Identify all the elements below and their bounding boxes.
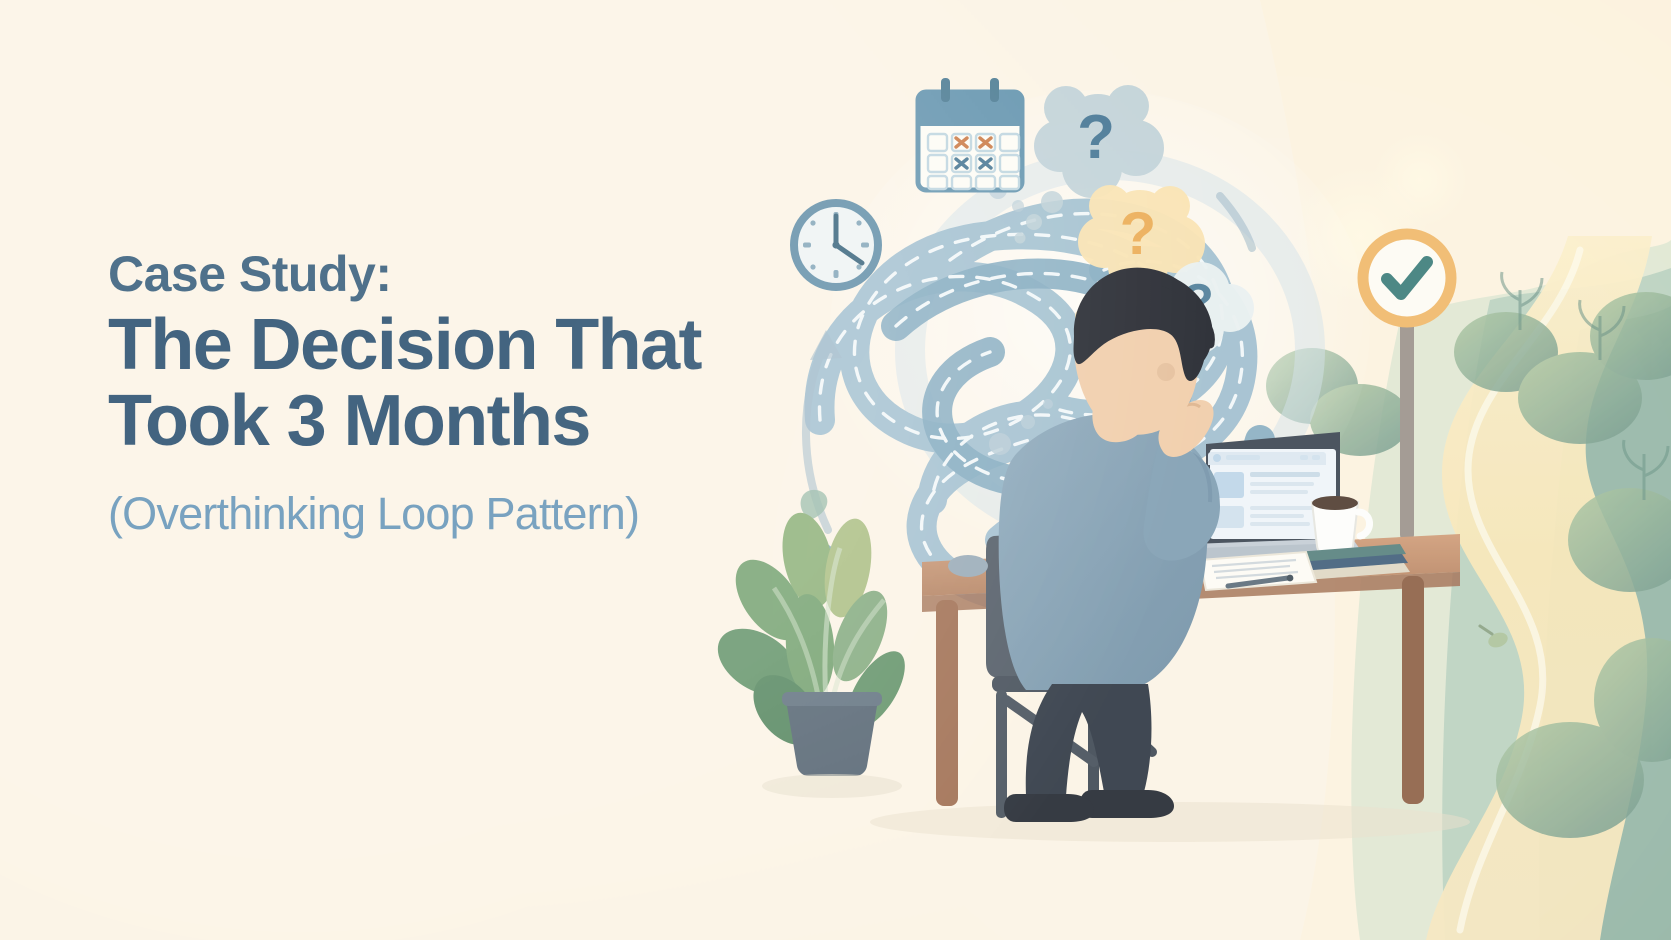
question-mark-glyph: ? [1077,103,1115,172]
computer-mouse [948,555,988,577]
coffee-surface [1312,496,1358,510]
light-glow [1372,132,1468,228]
question-mark-glyph: ? [1120,200,1157,267]
calendar-ring [990,78,999,102]
ear [1157,363,1175,381]
headline-line-2: Took 3 Months [108,384,728,460]
page-title: The Decision That Took 3 Months [108,308,728,459]
illustration-overthinking-at-desk: ? ? [700,0,1671,940]
sign-post [1400,300,1414,540]
banner-canvas: ? ? [0,0,1671,940]
shoe [1080,790,1174,818]
desk-leg [1402,576,1424,804]
eyebrow-text: Case Study: [108,246,728,302]
calendar-ring [941,78,950,102]
plant-shadow [762,774,902,798]
shoe [1004,794,1094,822]
chair-leg [996,690,1007,818]
wall-clock-icon [794,203,878,287]
subtitle-text: (Overthinking Loop Pattern) [108,487,728,541]
title-block: Case Study: The Decision That Took 3 Mon… [108,246,728,541]
wall-calendar-icon [918,78,1022,190]
desk-leg [936,600,958,806]
plant-pot [786,700,878,776]
headline-line-1: The Decision That [108,308,728,384]
